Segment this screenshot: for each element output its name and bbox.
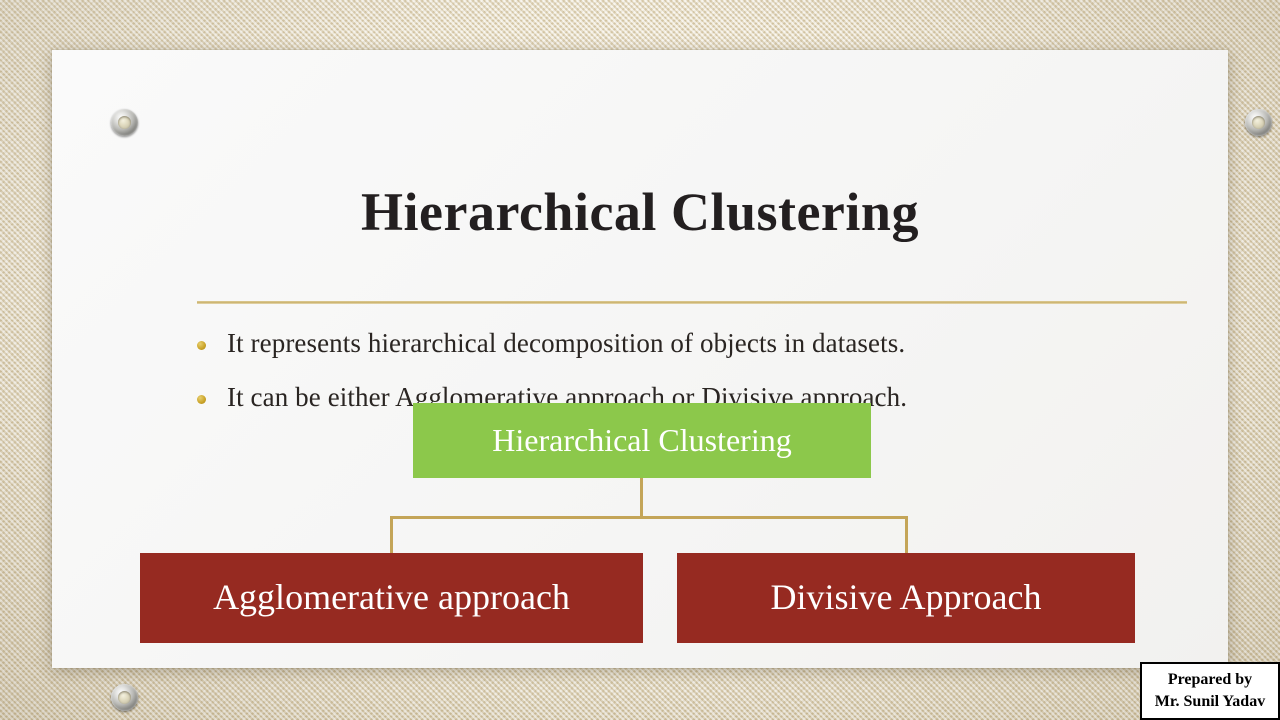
diagram-node-root: Hierarchical Clustering xyxy=(413,403,871,478)
diagram-node-divisive: Divisive Approach xyxy=(677,553,1135,643)
connector-drop-right xyxy=(905,516,908,555)
credit-line-1: Prepared by xyxy=(1168,669,1252,691)
screw-icon-top-left xyxy=(111,109,138,136)
screw-icon-top-right xyxy=(1245,109,1272,136)
diagram-node-divisive-label: Divisive Approach xyxy=(771,577,1042,618)
diagram-node-agglomerative: Agglomerative approach xyxy=(140,553,643,643)
screw-icon-bottom-left xyxy=(111,684,138,711)
credit-watermark: Prepared by Mr. Sunil Yadav xyxy=(1140,662,1280,720)
connector-drop-left xyxy=(390,516,393,555)
connector-stem xyxy=(640,478,643,518)
diagram-node-agglomerative-label: Agglomerative approach xyxy=(213,577,570,618)
hierarchy-diagram: Hierarchical Clustering Agglomerative ap… xyxy=(52,50,1228,668)
credit-line-2: Mr. Sunil Yadav xyxy=(1155,691,1265,713)
diagram-node-root-label: Hierarchical Clustering xyxy=(492,422,791,459)
presentation-slide: Hierarchical Clustering It represents hi… xyxy=(52,50,1228,668)
connector-horizontal-bar xyxy=(390,516,908,519)
